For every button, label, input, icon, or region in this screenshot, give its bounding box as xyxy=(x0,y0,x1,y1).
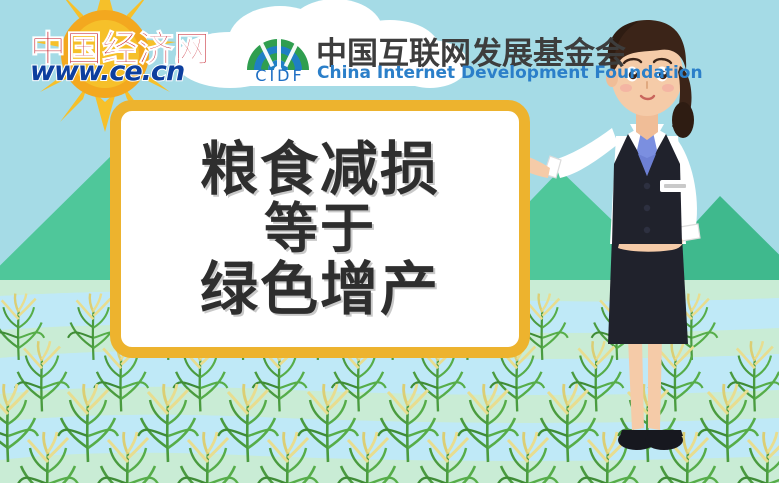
cidf-arc-logo-icon xyxy=(243,26,313,70)
headline-line-2: 等于 xyxy=(264,202,376,256)
headline-panel: 粮食减损 等于 绿色增产 xyxy=(110,100,530,358)
poster-canvas: 粮食减损 等于 绿色增产 中国经济网 www.ce.cn CIDF 中国互联网发… xyxy=(0,0,779,483)
headline-line-3: 绿色增产 xyxy=(200,260,440,318)
cidf-english-name: China Internet Development Foundation xyxy=(317,63,703,83)
ce-cn-url: www.ce.cn xyxy=(30,56,226,87)
headline-line-1: 粮食减损 xyxy=(200,140,440,198)
cidf-abbreviation: CIDF xyxy=(245,66,315,85)
